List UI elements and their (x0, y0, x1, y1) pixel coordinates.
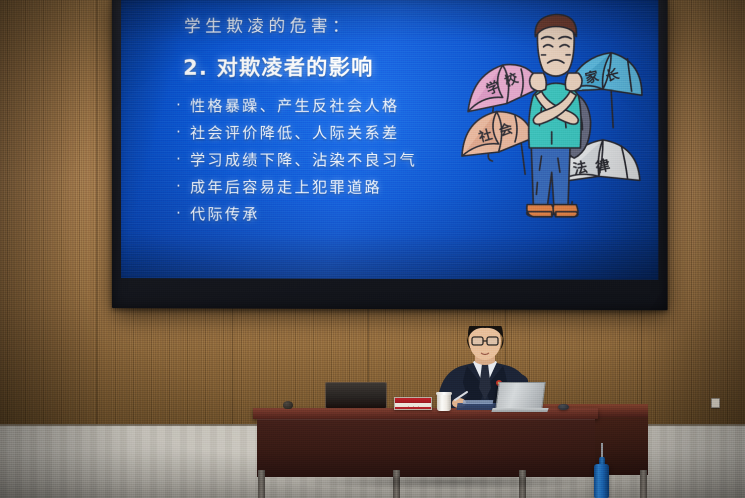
bullet-text: 社会评价降低、人际关系差 (190, 122, 399, 143)
slide-heading: 2. 对欺凌者的影响 (183, 51, 373, 82)
computer-mouse (558, 404, 569, 410)
bullet-marker-icon: · (176, 179, 190, 194)
bullet-marker-icon: · (176, 152, 190, 167)
bullet-marker-icon: · (176, 206, 190, 221)
wall-outlet (711, 398, 720, 408)
name-placard: · · · (394, 397, 432, 410)
desk-panel (257, 419, 595, 477)
bottle-strap (601, 443, 603, 458)
document-stack-top (463, 400, 494, 404)
water-bottle (594, 464, 609, 498)
projection-screen-bezel: 学生欺凌的危害： 2. 对欺凌者的影响 · 性格暴躁、产生反社会人格 · 社会评… (112, 0, 668, 310)
figure-legs (531, 146, 570, 205)
lecture-hall-scene: 学生欺凌的危害： 2. 对欺凌者的影响 · 性格暴躁、产生反社会人格 · 社会评… (0, 0, 745, 498)
bullet-text: 代际传承 (190, 203, 260, 224)
empty-chair (325, 382, 387, 409)
bullet-text: 性格暴躁、产生反社会人格 (190, 95, 399, 116)
figure-head (535, 14, 576, 76)
paper-cup (437, 393, 451, 411)
laptop-base (491, 408, 548, 412)
bullet-text: 成年后容易走上犯罪道路 (190, 176, 382, 197)
slide-title: 学生欺凌的危害： (184, 12, 353, 37)
bullet-marker-icon: · (176, 125, 190, 140)
bullet-text: 学习成绩下降、沾染不良习气 (190, 149, 417, 170)
presentation-slide: 学生欺凌的危害： 2. 对欺凌者的影响 · 性格暴躁、产生反社会人格 · 社会评… (121, 0, 658, 280)
desk-small-object (283, 401, 293, 409)
bullet-marker-icon: · (176, 98, 190, 113)
paper-cup-rim (436, 392, 452, 395)
laptop-screen (495, 382, 545, 410)
figure-shoes (527, 205, 578, 217)
slide-illustration: .ink { stroke:#2a2a33; stroke-width:1.6;… (458, 2, 652, 237)
